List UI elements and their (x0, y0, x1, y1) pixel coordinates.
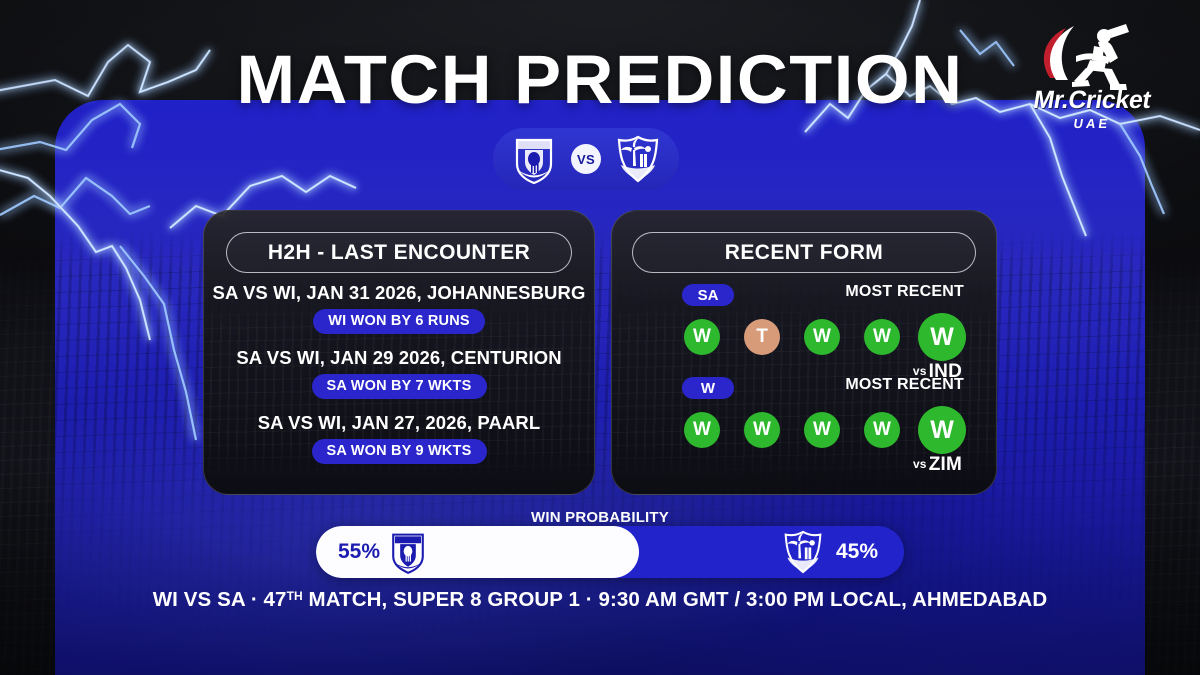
h2h-match-row: SA VS WI, JAN 27, 2026, PAARL SA WON BY … (204, 412, 594, 464)
recent-form-panel: RECENT FORM SA MOST RECENT W T W W W vsI… (611, 210, 997, 495)
h2h-match-line: SA VS WI, JAN 31 2026, JOHANNESBURG (204, 282, 594, 304)
h2h-panel: H2H - LAST ENCOUNTER SA VS WI, JAN 31 20… (203, 210, 595, 495)
win-probability-away-segment: 45% (782, 526, 904, 578)
h2h-heading: H2H - LAST ENCOUNTER (226, 232, 572, 273)
h2h-result-badge: WI WON BY 6 RUNS (313, 309, 485, 334)
south-africa-crest-icon (388, 530, 428, 574)
form-result-circle: W (804, 412, 840, 448)
footer-post: MATCH, SUPER 8 GROUP 1 · 9:30 AM GMT / 3… (303, 588, 1047, 611)
team-code-chip: W (682, 377, 734, 399)
batsman-icon (1032, 22, 1152, 90)
vs-opponent: ZIM (929, 454, 962, 475)
away-win-percent: 45% (836, 540, 878, 564)
footer-ordinal-suffix: TH (287, 589, 303, 603)
vs-prefix: vs (913, 457, 927, 471)
west-indies-crest-icon (615, 134, 661, 184)
h2h-match-line: SA VS WI, JAN 29 2026, CENTURION (204, 347, 594, 369)
team-code-chip: SA (682, 284, 734, 306)
form-result-circle: T (744, 319, 780, 355)
south-africa-crest-icon (511, 134, 557, 184)
win-probability-home-segment: 55% (316, 526, 639, 578)
form-opponent-label: vsZIM (913, 454, 962, 476)
form-result-circle: W (864, 412, 900, 448)
poster-stage: MATCH PREDICTION Mr.Cricket UAE (0, 0, 1200, 675)
form-result-circle: W (804, 319, 840, 355)
h2h-match-row: SA VS WI, JAN 31 2026, JOHANNESBURG WI W… (204, 282, 594, 334)
match-info-footer: WI VS SA · 47TH MATCH, SUPER 8 GROUP 1 ·… (0, 588, 1200, 612)
form-result-circle: W (864, 319, 900, 355)
brand-sub: UAE (1011, 116, 1173, 131)
h2h-match-line: SA VS WI, JAN 27, 2026, PAARL (204, 412, 594, 434)
most-recent-label: MOST RECENT (845, 376, 964, 394)
form-result-circle-latest: W (918, 313, 966, 361)
west-indies-crest-icon (782, 529, 824, 575)
most-recent-label: MOST RECENT (845, 283, 964, 301)
versus-badge: VS (571, 144, 601, 174)
brand-logo[interactable]: Mr.Cricket UAE (1012, 22, 1172, 132)
h2h-match-row: SA VS WI, JAN 29 2026, CENTURION SA WON … (204, 347, 594, 399)
home-win-percent: 55% (338, 540, 380, 564)
footer-pre: WI VS SA · 47 (153, 588, 287, 611)
form-result-circle: W (744, 412, 780, 448)
form-result-circle: W (684, 412, 720, 448)
win-probability-label: WIN PROBABILITY (0, 509, 1200, 526)
form-result-row: W W W W W vsZIM (632, 404, 976, 456)
form-result-row: W T W W W vsIND (632, 311, 976, 363)
recent-form-heading: RECENT FORM (632, 232, 976, 273)
win-probability-bar: 55% (316, 526, 904, 578)
form-result-circle: W (684, 319, 720, 355)
form-result-circle-latest: W (918, 406, 966, 454)
team-matchup-strip: VS (493, 128, 679, 190)
recent-form-team-block: SA MOST RECENT W T W W W vsIND (612, 284, 996, 363)
h2h-match-list: SA VS WI, JAN 31 2026, JOHANNESBURG WI W… (204, 282, 594, 464)
h2h-result-badge: SA WON BY 7 WKTS (312, 374, 487, 399)
brand-name: Mr.Cricket (1010, 86, 1175, 115)
recent-form-team-block: W MOST RECENT W W W W W vsZIM (612, 377, 996, 456)
h2h-result-badge: SA WON BY 9 WKTS (312, 439, 487, 464)
